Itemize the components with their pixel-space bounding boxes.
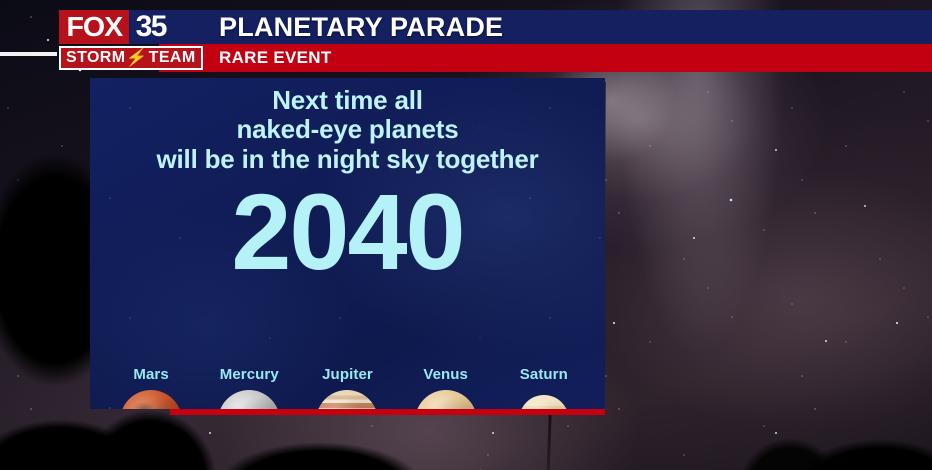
banner-left-rule: [0, 52, 57, 56]
station-logo-top: FOX 35: [59, 10, 203, 44]
lightning-bolt-icon: ⚡: [125, 50, 148, 66]
planet-item-mars: Mars: [105, 366, 198, 409]
saturn-body: [519, 395, 569, 409]
mercury-icon: [218, 390, 280, 409]
headline-line-1: Next time all: [90, 86, 605, 115]
planet-label: Jupiter: [322, 366, 373, 383]
planet-item-venus: Venus: [399, 366, 492, 409]
headline-line-3: will be in the night sky together: [90, 145, 605, 174]
panel-headline: Next time all naked-eye planets will be …: [90, 78, 605, 174]
page-subtitle: RARE EVENT: [219, 48, 332, 68]
page-title: PLANETARY PARADE: [219, 12, 503, 43]
storm-label: STORM: [66, 50, 125, 66]
banner-subtitle-bar: RARE EVENT: [159, 44, 932, 72]
network-badge: FOX: [59, 10, 129, 44]
storm-team-badge: STORM ⚡ TEAM: [59, 46, 203, 70]
jupiter-icon: [316, 390, 378, 409]
planet-item-saturn: Saturn: [497, 366, 590, 409]
panel-accent-bar: [170, 409, 605, 415]
headline-line-2: naked-eye planets: [90, 115, 605, 144]
planet-label: Saturn: [520, 366, 568, 383]
planet-label: Mercury: [220, 366, 279, 383]
mars-icon: [120, 390, 182, 409]
station-logo: FOX 35 STORM ⚡ TEAM: [59, 10, 203, 70]
planet-item-jupiter: Jupiter: [301, 366, 394, 409]
planet-label: Venus: [423, 366, 468, 383]
banner-title-bar: PLANETARY PARADE: [159, 10, 932, 44]
channel-number: 35: [136, 12, 166, 42]
year-value: 2040: [90, 180, 605, 284]
team-label: TEAM: [149, 50, 196, 66]
venus-icon: [415, 390, 477, 409]
planet-label: Mars: [133, 366, 168, 383]
planet-item-mercury: Mercury: [203, 366, 296, 409]
channel-badge: 35: [129, 10, 175, 44]
broadcast-graphic: PLANETARY PARADE RARE EVENT FOX 35 STORM…: [0, 0, 932, 470]
network-name: FOX: [66, 13, 122, 41]
planet-list: Mars Mercury Jupiter Venus Saturn: [90, 366, 605, 409]
info-panel: Next time all naked-eye planets will be …: [90, 78, 605, 409]
saturn-icon: [497, 390, 590, 409]
